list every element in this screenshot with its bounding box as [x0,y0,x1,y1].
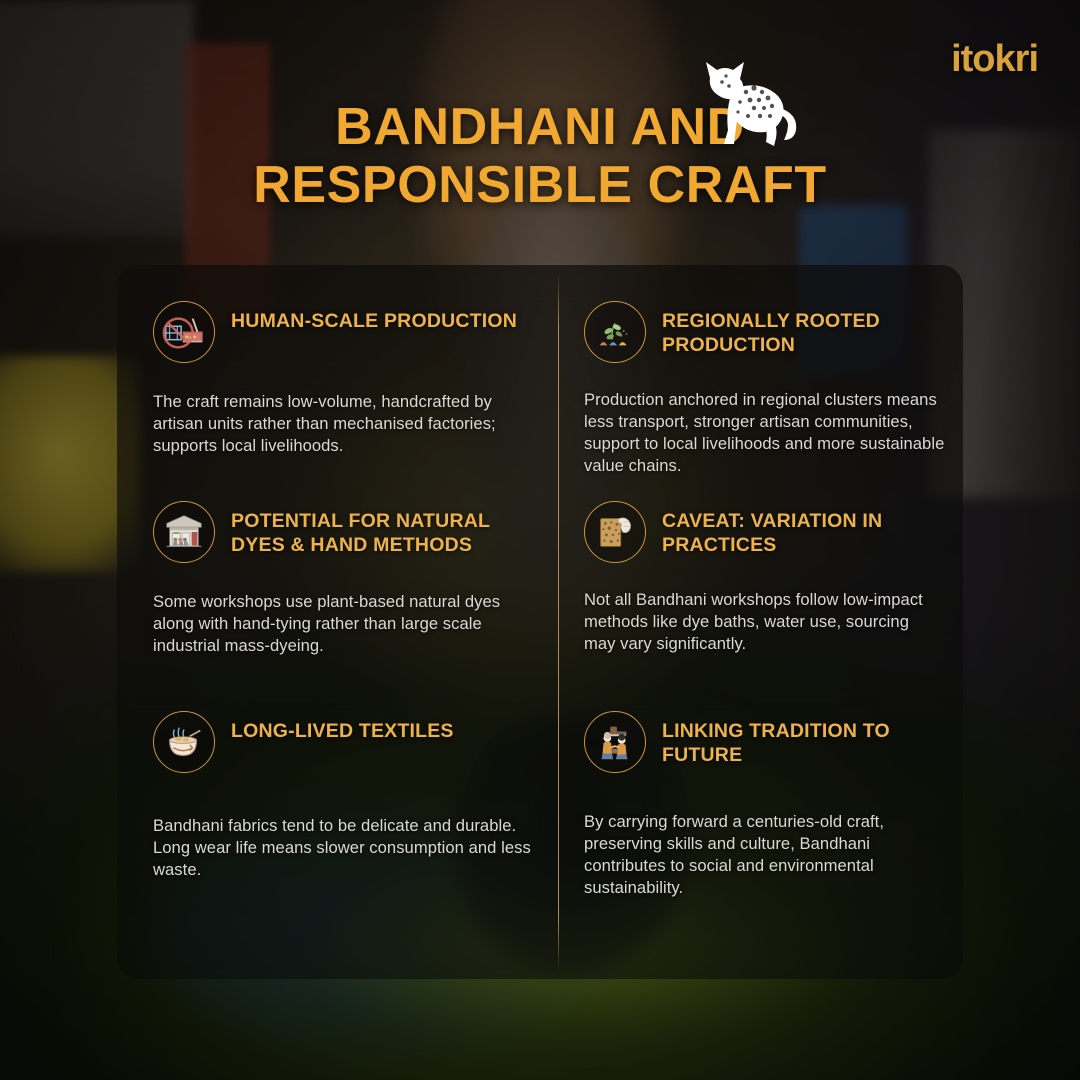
card-header: POTENTIAL FOR NATURAL DYES & HAND METHOD… [153,465,536,563]
card-header: REGIONALLY ROOTED PRODUCTION [584,265,945,363]
no-factory-icon [153,301,215,363]
card-header: LINKING TRADITION TO FUTURE [584,675,945,773]
page-title-line-1: BANDHANI AND [335,98,745,156]
card-linking-tradition-to-future: LINKING TRADITION TO FUTURE By carrying … [558,675,963,979]
hand-holding-fabric-swatch-icon [584,501,646,563]
card-caveat-variation-in-practices: CAVEAT: VARIATION IN PRACTICES Not all B… [558,465,963,675]
brand-logo: itokri [951,40,1038,78]
card-body: Not all Bandhani workshops follow low-im… [584,589,945,655]
card-header: LONG-LIVED TEXTILES [153,675,536,773]
card-title: LONG-LIVED TEXTILES [231,711,454,744]
infographic-poster: itokri BANDHANI AND RESPONSIBLE CRAFT [0,0,1080,1080]
card-title: LINKING TRADITION TO FUTURE [662,711,945,768]
card-natural-dyes-hand-methods: POTENTIAL FOR NATURAL DYES & HAND METHOD… [117,465,558,675]
card-long-lived-textiles: LONG-LIVED TEXTILES Bandhani fabrics ten… [117,675,558,979]
sprout-and-dye-piles-icon [584,301,646,363]
card-header: HUMAN-SCALE PRODUCTION [153,265,536,363]
card-title: CAVEAT: VARIATION IN PRACTICES [662,501,945,558]
page-title: BANDHANI AND RESPONSIBLE CRAFT [0,98,1080,214]
card-body: By carrying forward a centuries-old craf… [584,811,945,899]
card-body: Bandhani fabrics tend to be delicate and… [153,815,536,881]
steaming-dye-pot-icon [153,711,215,773]
page-title-line-2: RESPONSIBLE CRAFT [0,156,1080,214]
card-body: Production anchored in regional clusters… [584,389,945,477]
card-header: CAVEAT: VARIATION IN PRACTICES [584,465,945,563]
craft-shop-building-icon [153,501,215,563]
card-title: REGIONALLY ROOTED PRODUCTION [662,301,945,358]
card-body: The craft remains low-volume, handcrafte… [153,391,536,457]
card-human-scale-production: HUMAN-SCALE PRODUCTION The craft remains… [117,265,558,465]
card-title: POTENTIAL FOR NATURAL DYES & HAND METHOD… [231,501,536,558]
card-title: HUMAN-SCALE PRODUCTION [231,301,517,334]
card-body: Some workshops use plant-based natural d… [153,591,536,657]
brand-logo-text: itokri [951,40,1038,78]
two-artisans-working-icon [584,711,646,773]
benefits-grid: HUMAN-SCALE PRODUCTION The craft remains… [117,265,963,979]
card-regionally-rooted-production: REGIONALLY ROOTED PRODUCTION Production … [558,265,963,465]
